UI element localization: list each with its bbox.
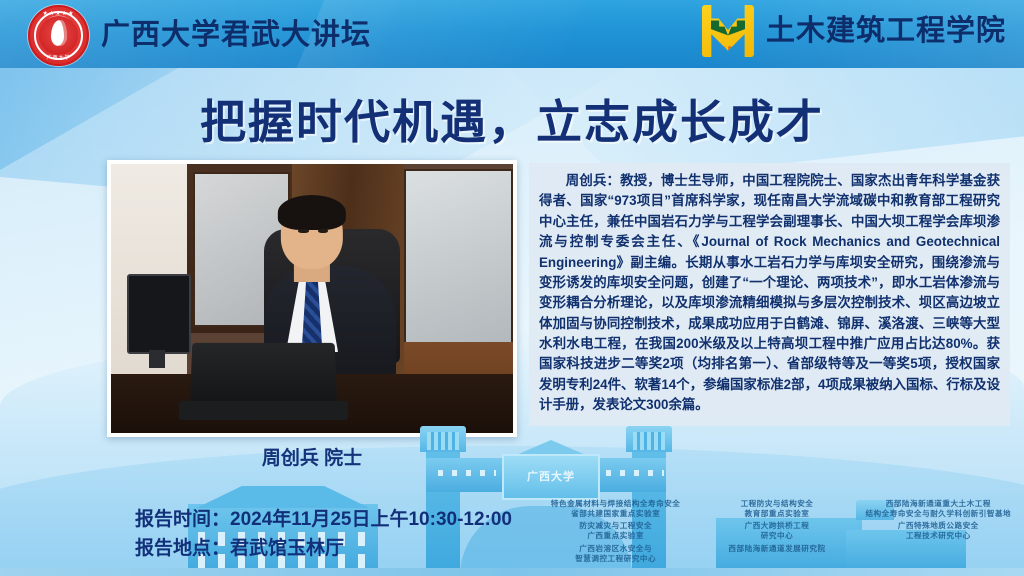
speaker-photo-image [111,164,513,433]
seal-flame [51,20,67,46]
lab-name-item: 广西大跨拱桥工程研究中心 [701,521,852,542]
photo-person-hair [278,195,346,230]
lab-name-list: 特色金属材料与焊接结构全寿命安全省部共建国家重点实验室 工程防灾与结构安全教育部… [540,499,1014,565]
bottom-strip [0,568,1024,576]
photo-person-eye-left [298,229,308,233]
event-time: 报告时间：2024年11月25日上午10:30-12:00 [135,505,512,534]
lab-name-item: 西部陆海新通道重大土木工程结构全寿命安全与耐久学科创新引智基地 [863,499,1014,520]
photo-monitor [127,274,191,353]
lab-name-item: 西部陆海新通道发展研究院 [701,544,852,565]
civil-engineering-emblem-icon: G.X.D.X. [702,5,754,57]
lab-name-item: 特色金属材料与焊接结构全寿命安全省部共建国家重点实验室 [540,499,691,520]
gate-dots-left [438,470,496,476]
lab-name-item: 广西岩溶区水安全与智慧调控工程研究中心 [540,544,691,565]
photo-monitor-stand [149,350,165,369]
lab-name-item: 防灾减灾与工程安全广西重点实验室 [540,521,691,542]
photo-person-eye-right [318,229,328,233]
gate-plaque: 广西大学 [502,454,600,500]
gate-cap-left [420,426,466,452]
seal-stars: ★★★★★ [30,10,87,17]
emblem-abbr: G.X.D.X. [702,47,754,53]
gxu-seal-icon: ★★★★★ 广西大学 [28,5,89,66]
event-place: 报告地点：君武馆玉林厅 [135,534,512,563]
gate-cap-right [626,426,672,452]
poster-root: ★★★★★ 广西大学 广西大学君武大讲坛 G.X.D.X. 土木建筑工程学院 把… [0,0,1024,576]
event-info: 报告时间：2024年11月25日上午10:30-12:00 报告地点：君武馆玉林… [135,505,512,564]
lab-name-item: 工程防灾与结构安全教育部重点实验室 [701,499,852,520]
header-bar: ★★★★★ 广西大学 广西大学君武大讲坛 G.X.D.X. 土木建筑工程学院 [0,0,1024,68]
brand-left: ★★★★★ 广西大学 广西大学君武大讲坛 [28,5,371,66]
speaker-photo [107,160,517,437]
speaker-biography: 周创兵：教授，博士生导师，中国工程院院士、国家杰出青年科学基金获得者、国家“97… [529,163,1010,426]
gate-plaque-text: 广西大学 [504,468,598,484]
brand-right: G.X.D.X. 土木建筑工程学院 [702,5,1006,57]
photo-bookcase-right [404,169,513,345]
photo-laptop-base [179,401,348,420]
gate-dots-right [606,470,664,476]
lab-name-item: 广西特殊地质公路安全工程技术研究中心 [863,521,1014,542]
emblem-bird-shape [711,20,745,35]
header-right-title: 土木建筑工程学院 [766,17,1006,46]
header-left-title: 广西大学君武大讲坛 [101,21,371,50]
seal-bottom-text: 广西大学 [30,54,87,61]
page-title: 把握时代机遇，立志成长成才 [0,86,1024,152]
